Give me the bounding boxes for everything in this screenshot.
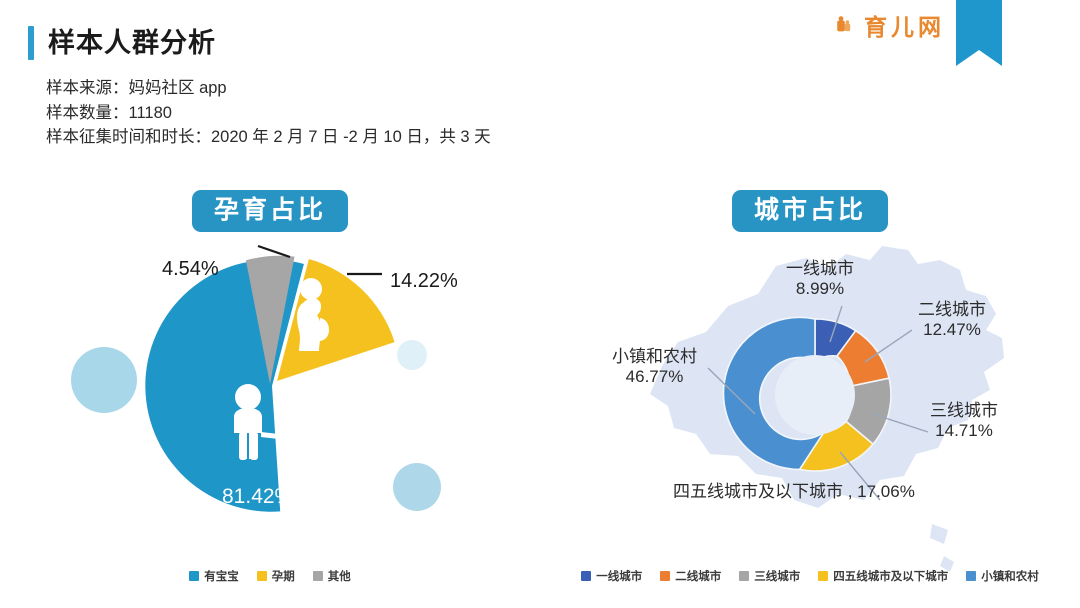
legend-swatch-icon (581, 571, 591, 581)
donut-label-tier1-value: 8.99% (786, 279, 854, 299)
legend-label: 其他 (328, 568, 351, 584)
donut-label-tier2-value: 12.47% (918, 320, 986, 340)
page-title: 样本人群分析 (48, 26, 216, 60)
legend-item-town-rural[interactable]: 小镇和农村 (966, 568, 1039, 584)
legend-swatch-icon (313, 571, 323, 581)
legend-label: 小镇和农村 (981, 568, 1039, 584)
donut-label-tier1: 一线城市 8.99% (786, 254, 854, 299)
legend-item-tier2[interactable]: 二线城市 (660, 568, 721, 584)
legend-label: 孕期 (272, 568, 295, 584)
legend-item-has-baby[interactable]: 有宝宝 (189, 568, 239, 584)
legend-item-pregnant[interactable]: 孕期 (257, 568, 295, 584)
legend-label: 有宝宝 (204, 568, 239, 584)
donut-label-tier2: 二线城市 12.47% (918, 295, 986, 340)
title-accent-bar (28, 26, 34, 60)
legend-swatch-icon (257, 571, 267, 581)
donut-label-town-rural-value: 46.77% (612, 367, 697, 387)
donut-label-town-rural: 小镇和农村 46.77% (612, 342, 697, 387)
legend-item-other[interactable]: 其他 (313, 568, 351, 584)
right-chart-legend: 一线城市 二线城市 三线城市 四五线城市及以下城市 小镇和农村 (540, 568, 1080, 584)
callout-label-pregnant: 14.22% (390, 270, 458, 293)
pie-center-value: 81.42% (222, 485, 293, 509)
legend-item-tier3[interactable]: 三线城市 (739, 568, 800, 584)
meta-line-count: 样本数量：11180 (46, 101, 491, 126)
callout-label-other: 4.54% (162, 258, 219, 281)
meta-line-period: 样本征集时间和时长：2020 年 2 月 7 日 -2 月 10 日，共 3 天 (46, 125, 491, 150)
header: 样本人群分析 样本来源：妈妈社区 app 样本数量：11180 样本征集时间和时… (0, 0, 1080, 170)
legend-swatch-icon (189, 571, 199, 581)
donut-label-tier45: 四五线城市及以下城市 , 17.06% (673, 477, 915, 502)
pie-slices (145, 256, 394, 512)
decor-circle-bottom (393, 463, 441, 511)
legend-label: 二线城市 (675, 568, 721, 584)
legend-swatch-icon (966, 571, 976, 581)
page-title-row: 样本人群分析 (28, 26, 216, 60)
slide-root: 样本人群分析 样本来源：妈妈社区 app 样本数量：11180 样本征集时间和时… (0, 0, 1080, 608)
pregnancy-pie-chart (0, 170, 540, 608)
meta-line-source: 样本来源：妈妈社区 app (46, 76, 491, 101)
legend-label: 一线城市 (596, 568, 642, 584)
decor-circle-left (71, 347, 137, 413)
legend-swatch-icon (739, 571, 749, 581)
donut-label-tier3-name: 三线城市 (930, 396, 998, 421)
city-tier-donut-chart (540, 170, 1080, 608)
logo-wordmark: 育儿网 (864, 8, 945, 42)
legend-label: 三线城市 (754, 568, 800, 584)
legend-label: 四五线城市及以下城市 (833, 568, 948, 584)
donut-label-tier3: 三线城市 14.71% (930, 396, 998, 441)
left-chart-panel: 孕育占比 (0, 170, 540, 608)
parent-child-logo-icon (834, 12, 860, 38)
donut-label-tier1-name: 一线城市 (786, 254, 854, 279)
donut-hole (775, 355, 855, 435)
ribbon-decoration-icon (956, 0, 1002, 66)
donut-label-tier3-value: 14.71% (930, 421, 998, 441)
legend-swatch-icon (818, 571, 828, 581)
legend-item-tier1[interactable]: 一线城市 (581, 568, 642, 584)
meta-block: 样本来源：妈妈社区 app 样本数量：11180 样本征集时间和时长：2020 … (46, 76, 491, 150)
callout-line-other (258, 246, 290, 257)
decor-circle-small-top (397, 340, 427, 370)
donut-label-town-rural-name: 小镇和农村 (612, 342, 697, 367)
right-chart-panel: 城市占比 (540, 170, 1080, 608)
brand-logo: 育儿网 (834, 8, 945, 42)
left-chart-legend: 有宝宝 孕期 其他 (0, 568, 540, 584)
donut-label-tier2-name: 二线城市 (918, 295, 986, 320)
legend-swatch-icon (660, 571, 670, 581)
legend-item-tier45[interactable]: 四五线城市及以下城市 (818, 568, 948, 584)
